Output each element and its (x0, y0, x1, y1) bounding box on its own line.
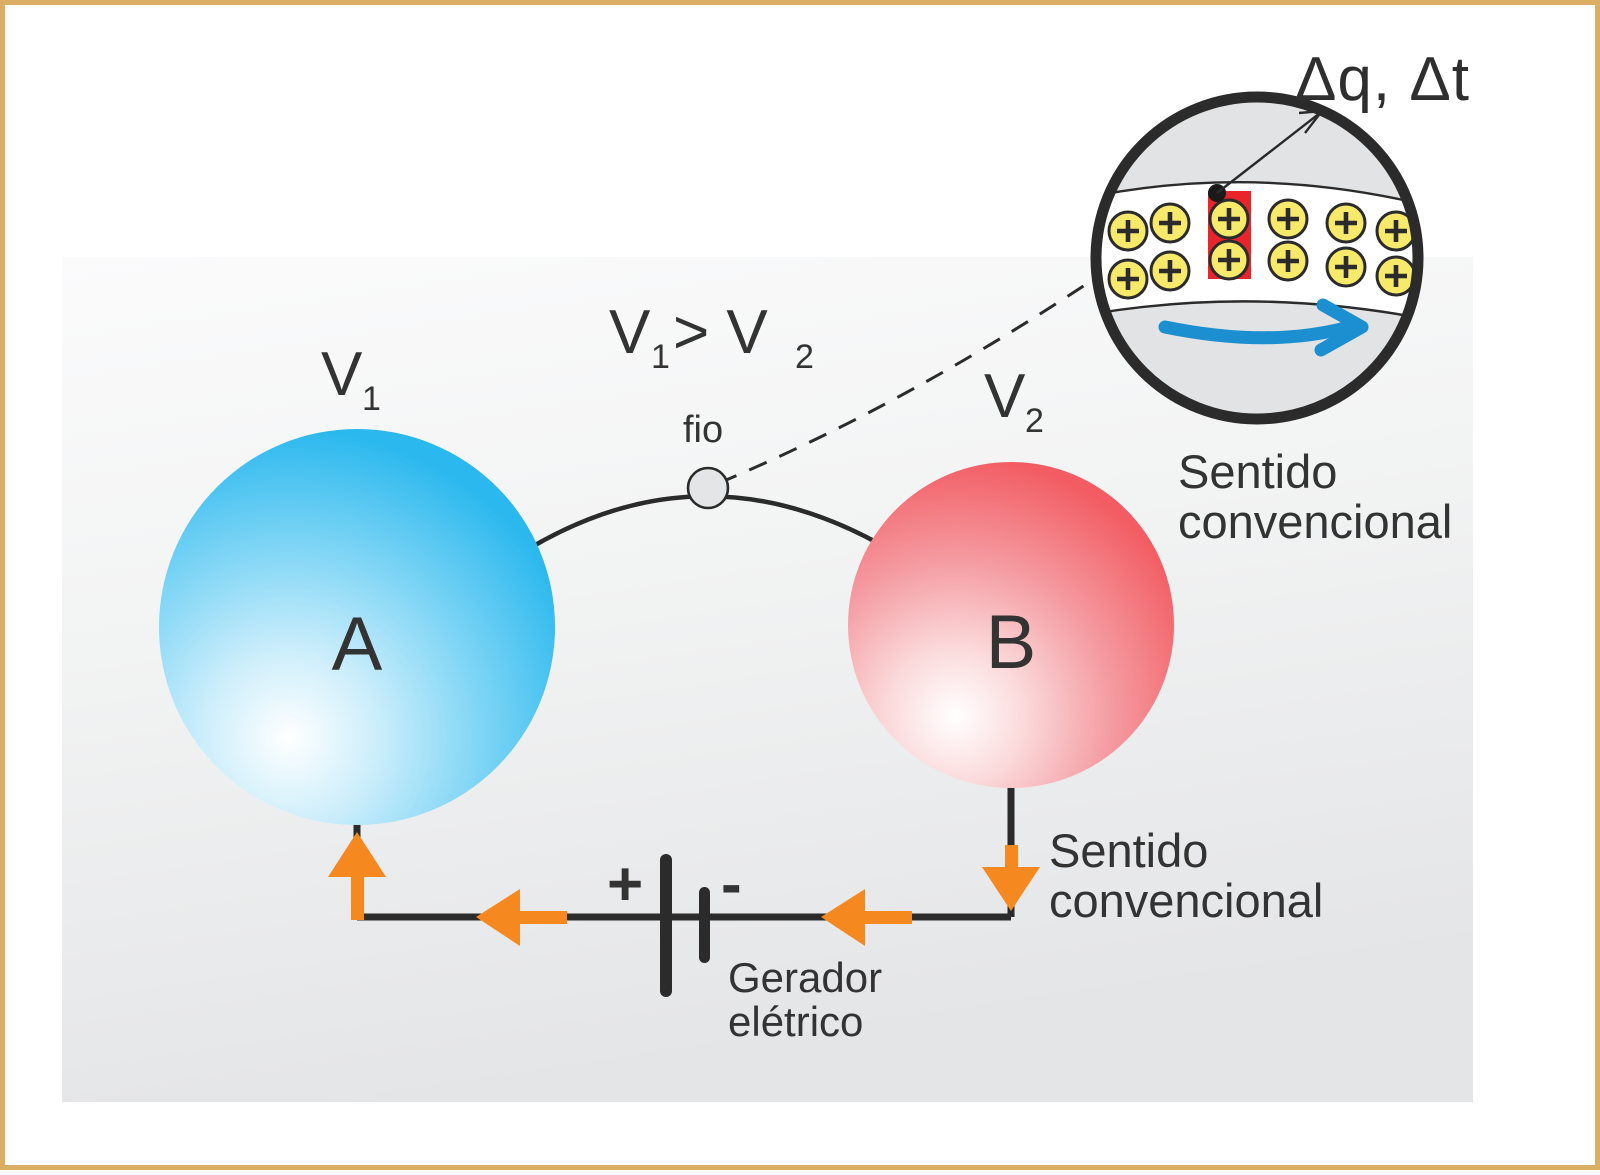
charge-plus-icon (1109, 260, 1147, 298)
v2-label: V (984, 362, 1026, 431)
battery-long-plate (660, 854, 672, 997)
charge-plus-icon (1269, 200, 1307, 238)
physics-diagram: Δq, Δt Sentido convencional A B fio V 1 (5, 5, 1600, 1175)
v1-label: V (321, 340, 363, 409)
conductor-band (1075, 182, 1445, 323)
delta-q-t-label: Δq, Δt (1295, 45, 1470, 114)
potential-compare-sub1: 1 (651, 338, 670, 376)
sphere-b-label: B (986, 600, 1037, 685)
charge-plus-icon (1210, 200, 1248, 238)
battery-plus-label: + (607, 850, 643, 919)
charge-plus-icon (1109, 212, 1147, 250)
sentido-top-line2: convencional (1178, 495, 1452, 548)
battery-short-plate (699, 887, 710, 963)
battery-minus-label: - (721, 850, 742, 919)
sentido-right-line1: Sentido (1049, 824, 1208, 877)
sentido-right-line2: convencional (1049, 874, 1323, 927)
potential-compare-v1: V (609, 298, 651, 367)
generator-label-line2: elétrico (728, 998, 863, 1045)
figure-page: Δq, Δt Sentido convencional A B fio V 1 (0, 0, 1600, 1170)
charge-plus-icon (1377, 257, 1415, 295)
v2-subscript: 2 (1025, 402, 1044, 440)
charge-plus-icon (1210, 241, 1248, 279)
sentido-top-line1: Sentido (1178, 445, 1337, 498)
charge-plus-icon (1151, 204, 1189, 242)
charge-plus-icon (1327, 204, 1365, 242)
sphere-a-label: A (332, 602, 383, 687)
charge-plus-icon (1269, 242, 1307, 280)
wire-label: fio (683, 409, 723, 451)
charge-plus-icon (1327, 248, 1365, 286)
potential-compare-op: > V (673, 298, 768, 367)
charge-plus-icon (1151, 252, 1189, 290)
wire-node (688, 468, 728, 508)
generator-label-line1: Gerador (728, 954, 882, 1001)
v1-subscript: 1 (362, 380, 381, 418)
potential-compare-sub2: 2 (795, 338, 814, 376)
